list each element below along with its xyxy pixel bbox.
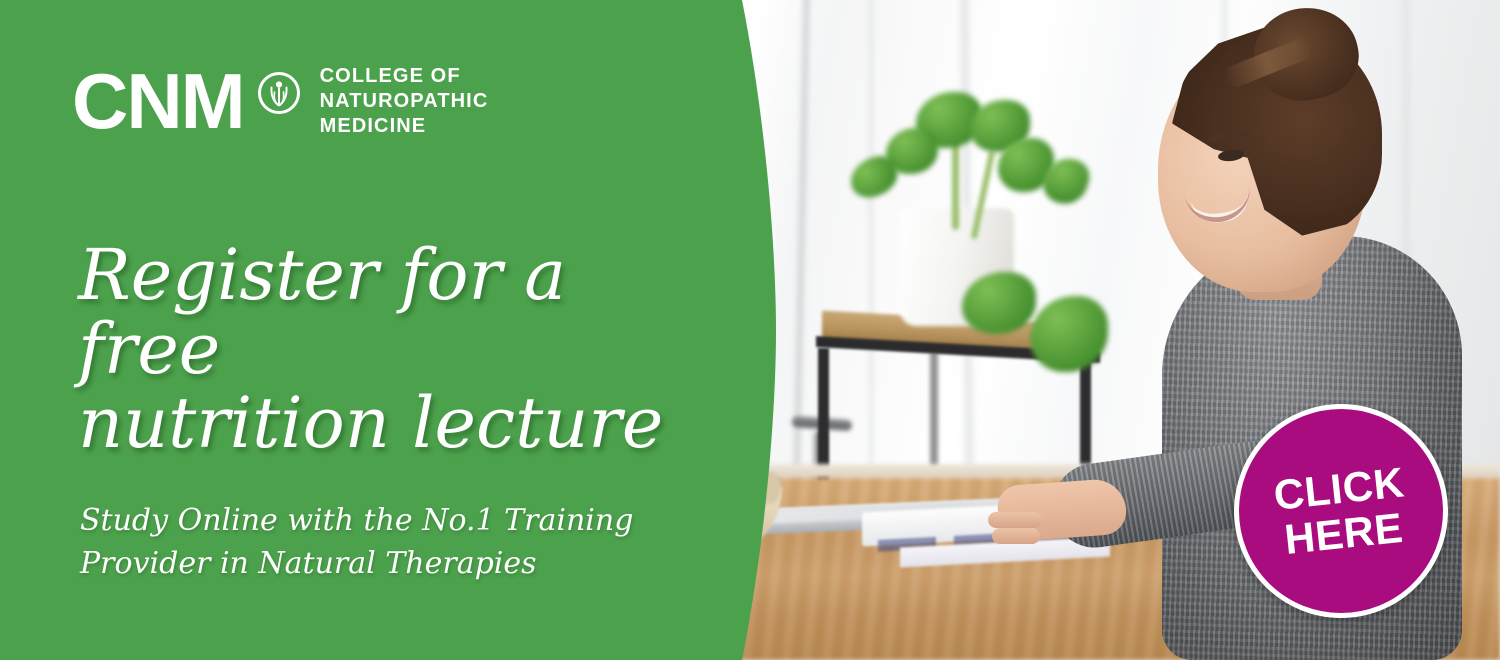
logo-acronym: CNM (72, 62, 244, 140)
logo-wordmark-line-3: MEDICINE (320, 114, 489, 139)
logo-wordmark: COLLEGE OF NATUROPATHIC MEDICINE (320, 64, 489, 139)
side-table-leg (930, 352, 938, 472)
headline-line-2: nutrition lecture (78, 386, 718, 460)
logo-wordmark-line-1: COLLEGE OF (320, 64, 489, 89)
person-plant-circle-icon (258, 72, 300, 114)
finger (988, 512, 1042, 528)
cta-label: CLICK HERE (1271, 459, 1411, 563)
cnm-logo[interactable]: CNM COLLEGE OF NATUROPATHIC MEDICINE (72, 62, 488, 140)
headline-line-1: Register for a free (78, 238, 718, 386)
logo-wordmark-line-2: NATUROPATHIC (320, 89, 489, 114)
window-frame (868, 0, 874, 541)
subheadline-line-1: Study Online with the No.1 Training (80, 500, 680, 543)
finger (992, 528, 1040, 544)
promo-banner[interactable]: CNM COLLEGE OF NATUROPATHIC MEDICINE Reg… (0, 0, 1500, 660)
subheadline: Study Online with the No.1 Training Prov… (80, 500, 680, 585)
click-here-button[interactable]: CLICK HERE (1234, 404, 1448, 618)
subheadline-line-2: Provider in Natural Therapies (80, 543, 680, 586)
headline: Register for a free nutrition lecture (78, 238, 718, 461)
